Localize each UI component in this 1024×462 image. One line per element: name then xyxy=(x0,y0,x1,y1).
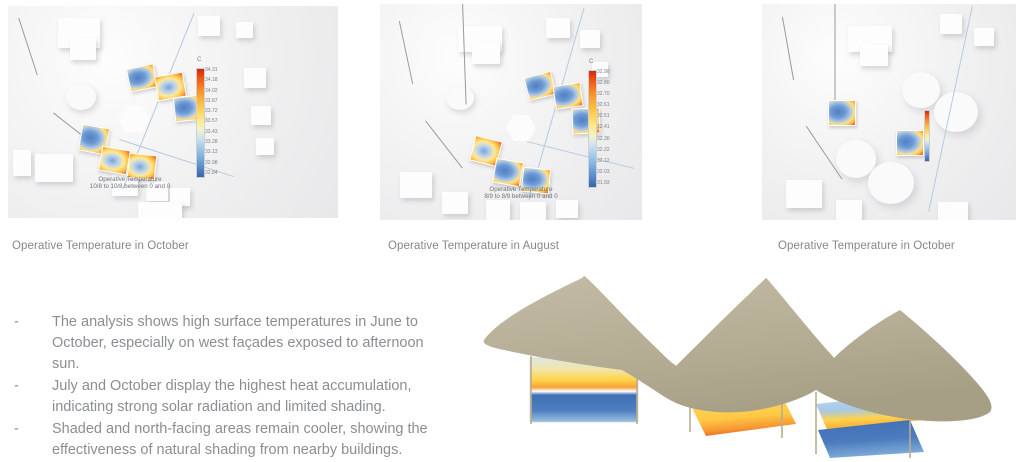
roof-canopy-3d-model[interactable] xyxy=(470,262,1024,460)
colorbar-tick: 34.18 xyxy=(205,78,218,83)
overlay-label: Operative Temperature 8/9 to 8/9 between… xyxy=(458,186,584,200)
colorbar-gradient xyxy=(588,70,597,188)
colorbar-tick: 32.41 xyxy=(597,125,610,130)
colorbar-legend xyxy=(924,110,944,160)
list-item: - Shaded and north-facing areas remain c… xyxy=(14,419,444,461)
colorbar-ticks: 34.31 34.18 34.02 33.87 33.72 33.57 33.4… xyxy=(205,68,218,176)
colorbar-unit: C xyxy=(197,57,201,63)
colorbar-tick: 32.70 xyxy=(597,92,610,97)
overlay-title: Operative Temperature xyxy=(458,186,584,193)
heat-patch xyxy=(896,130,924,156)
organic-form xyxy=(868,162,914,204)
colorbar-tick: 32.84 xyxy=(205,171,218,176)
colorbar-tick: 33.87 xyxy=(205,99,218,104)
colorbar-tick: 32.22 xyxy=(597,148,610,153)
building-block xyxy=(236,22,253,38)
list-item: - The analysis shows high surface temper… xyxy=(14,312,444,375)
building-block xyxy=(138,202,182,218)
colorbar-tick: 32.03 xyxy=(597,170,610,175)
bullet-text: The analysis shows high surface temperat… xyxy=(52,312,442,375)
colorbar-tick: 33.57 xyxy=(205,119,218,124)
colorbar-legend: C 32.90 32.80 32.70 32.61 32.51 32.41 32… xyxy=(588,70,624,186)
overlay-title: Operative Temperature xyxy=(70,176,190,183)
colorbar-tick: 33.13 xyxy=(205,150,218,155)
slide-canvas: C 34.31 34.18 34.02 33.87 33.72 33.57 33… xyxy=(0,0,1024,460)
overlay-subtitle: 10/8 to 10/8 between 0 and 0 xyxy=(70,183,190,190)
building-block xyxy=(938,202,968,220)
building-block xyxy=(940,14,962,34)
colorbar-tick: 32.61 xyxy=(597,103,610,108)
building-block xyxy=(256,138,274,155)
colorbar-tick: 32.30 xyxy=(597,137,610,142)
colorbar-tick: 33.43 xyxy=(205,130,218,135)
silo-circle xyxy=(446,86,474,110)
building-block xyxy=(472,42,500,64)
figure-caption-3: Operative Temperature in October xyxy=(778,240,955,252)
colorbar-gradient xyxy=(196,68,205,178)
figure-caption-1: Operative Temperature in October xyxy=(12,240,189,252)
colorbar-ticks: 32.90 32.80 32.70 32.61 32.51 32.41 32.3… xyxy=(597,70,610,186)
building-block xyxy=(836,200,862,220)
model-svg xyxy=(470,262,1024,460)
bullet-marker: - xyxy=(14,419,52,461)
colorbar-tick: 33.28 xyxy=(205,140,218,145)
building-block xyxy=(580,30,600,48)
building-block xyxy=(520,202,546,220)
building-block xyxy=(556,200,578,218)
heat-patch xyxy=(492,158,524,187)
colorbar-tick: 32.90 xyxy=(597,70,610,75)
figure-october-2[interactable] xyxy=(762,4,1016,220)
figure-august[interactable]: C 32.90 32.80 32.70 32.61 32.51 32.41 32… xyxy=(380,4,642,220)
colorbar-gradient xyxy=(924,110,930,162)
colorbar-tick: 33.72 xyxy=(205,109,218,114)
building-block xyxy=(251,106,271,125)
building-block xyxy=(486,200,510,220)
building-block xyxy=(974,28,994,46)
heat-patch xyxy=(828,100,856,126)
building-block xyxy=(860,44,888,66)
building-block xyxy=(70,38,96,60)
figure-october-1[interactable]: C 34.31 34.18 34.02 33.87 33.72 33.57 33… xyxy=(8,6,338,218)
bullet-marker: - xyxy=(14,376,52,418)
building-block xyxy=(244,68,266,88)
colorbar-tick: 32.51 xyxy=(597,114,610,119)
overlay-label: Operative Temperature 10/8 to 10/8 betwe… xyxy=(70,176,190,190)
road-line xyxy=(835,4,836,102)
organic-form xyxy=(902,72,940,108)
colorbar-legend: C 34.31 34.18 34.02 33.87 33.72 33.57 33… xyxy=(196,68,232,176)
bullet-text: July and October display the highest hea… xyxy=(52,376,442,418)
building-block xyxy=(198,16,220,36)
site-plan-render-3 xyxy=(762,4,1016,220)
overlay-subtitle: 8/9 to 8/9 between 0 and 0 xyxy=(458,193,584,200)
bullet-text: Shaded and north-facing areas remain coo… xyxy=(52,419,442,461)
silo-circle xyxy=(66,84,96,110)
building-block xyxy=(400,172,432,198)
figure-caption-2: Operative Temperature in August xyxy=(388,240,559,252)
heat-patch xyxy=(552,82,583,110)
site-plan-render-1: C 34.31 34.18 34.02 33.87 33.72 33.57 33… xyxy=(8,6,338,218)
colorbar-tick: 34.02 xyxy=(205,89,218,94)
analysis-bullet-list: - The analysis shows high surface temper… xyxy=(14,312,444,462)
bullet-marker: - xyxy=(14,312,52,375)
colorbar-tick: 34.31 xyxy=(205,68,218,73)
building-block xyxy=(35,154,73,182)
building-block xyxy=(546,18,570,38)
colorbar-unit: C xyxy=(589,59,593,65)
colorbar-tick: 31.93 xyxy=(597,181,610,186)
heat-patch xyxy=(98,146,131,176)
colorbar-tick: 32.98 xyxy=(205,161,218,166)
building-block xyxy=(786,180,822,208)
colorbar-tick: 32.80 xyxy=(597,81,610,86)
site-plan-render-2: C 32.90 32.80 32.70 32.61 32.51 32.41 32… xyxy=(380,4,642,220)
colorbar-tick: 32.12 xyxy=(597,159,610,164)
building-block xyxy=(13,150,31,176)
list-item: - July and October display the highest h… xyxy=(14,376,444,418)
